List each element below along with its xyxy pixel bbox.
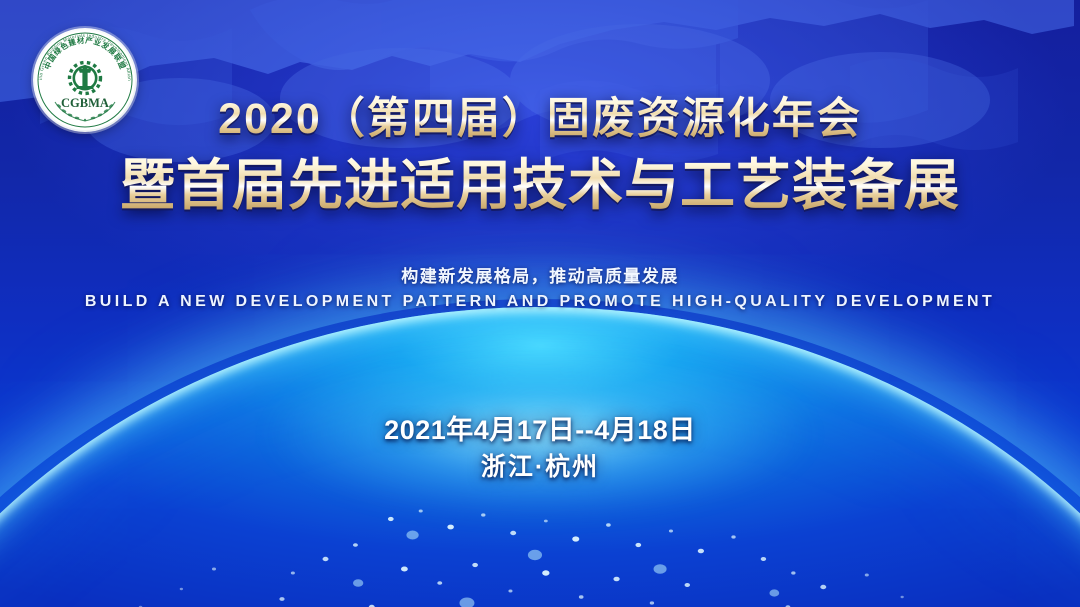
event-date: 2021年4月17日--4月18日 [0,408,1080,447]
title-block: 2020（第四届）固废资源化年会 暨首届先进适用技术与工艺装备展 [0,92,1080,220]
conference-banner: China Green Building Materials Industry … [0,0,1080,607]
slogan-chinese: 构建新发展格局，推动高质量发展 [0,262,1080,287]
title-line-2: 暨首届先进适用技术与工艺装备展 [0,150,1080,220]
slogan-english: BUILD A NEW DEVELOPMENT PATTERN AND PROM… [0,293,1080,311]
event-location: 浙江·杭州 [0,447,1080,483]
title-line-1: 2020（第四届）固废资源化年会 [0,92,1080,146]
